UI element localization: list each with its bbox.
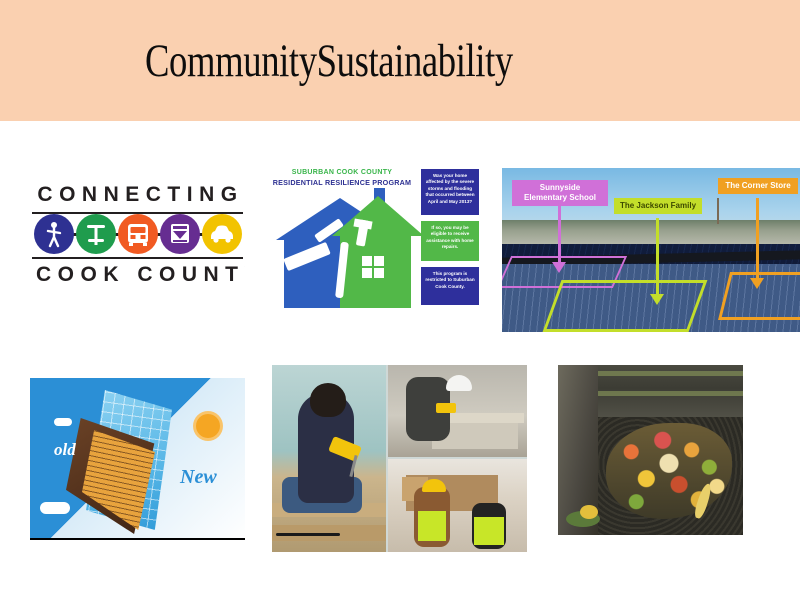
safety-vest-icon: [418, 511, 446, 541]
bin-slat-lower: [596, 391, 743, 396]
bike-icon: [76, 214, 116, 254]
arrow-shaft-store: [756, 198, 759, 280]
power-tool-yellow: [436, 403, 456, 413]
flyer-callout-1: Was your home affected by the severe sto…: [421, 169, 479, 215]
logo-bottom-word: COOK COUNTY: [30, 263, 245, 287]
label-new: New: [180, 466, 217, 489]
power-cord: [276, 533, 340, 536]
construction-training-collage: [272, 365, 527, 552]
collage-panel-cabinets: [388, 459, 527, 552]
flyer-callout-2: If so, you may be eligible to receive as…: [421, 221, 479, 261]
label-old: old: [54, 440, 76, 460]
hard-hat-white: [446, 375, 472, 391]
solar-tag-family: The Jackson Family: [614, 198, 702, 214]
train-icon: [160, 214, 200, 254]
house-window-mullion-v: [372, 256, 374, 278]
arrow-head-family: [650, 294, 664, 305]
flyer-title-line2: RESIDENTIAL RESILIENCE PROGRAM: [270, 178, 414, 187]
worker-head: [310, 383, 346, 417]
page-title: CommunitySustainability: [145, 36, 513, 86]
compost-bin-photo: [558, 365, 743, 535]
house-green-roof: [332, 196, 424, 236]
arrow-head-school: [552, 262, 566, 273]
arrow-shaft-school: [558, 206, 561, 264]
logo-rule-bottom: [32, 257, 243, 259]
radio-tower: [717, 198, 719, 224]
flyer-title-line1: SUBURBAN COOK COUNTY: [278, 169, 406, 176]
residential-resilience-flyer: SUBURBAN COOK COUNTY RESIDENTIAL RESILIE…: [270, 168, 480, 308]
slide-canvas: CommunitySustainability CONNECTING: [0, 0, 800, 600]
arrow-shaft-family: [656, 218, 659, 296]
logo-top-word: CONNECTING: [30, 183, 245, 207]
community-solar-photo: Sunnyside Elementary School The Jackson …: [502, 168, 800, 332]
collage-panel-workbench: [388, 365, 527, 457]
solar-tag-school: Sunnyside Elementary School: [512, 180, 608, 206]
cloud-icon: [54, 418, 72, 426]
arrow-head-store: [750, 278, 764, 289]
citrus-peel: [580, 505, 598, 519]
solar-tag-store: The Corner Store: [718, 178, 798, 194]
old-new-neighborhood-illustration: old New: [30, 378, 245, 540]
zone-outline-family: [543, 280, 708, 332]
walk-icon: [34, 214, 74, 254]
cloud-icon-lower: [40, 502, 70, 514]
flyer-callout-3: This program is restricted to Suburban C…: [421, 267, 479, 305]
collage-panel-drilling: [272, 365, 386, 552]
hard-hat-yellow: [422, 479, 446, 492]
car-icon: [202, 214, 242, 254]
safety-vest-icon-second: [474, 517, 504, 545]
illustration-underline: [30, 538, 245, 540]
sun-icon: [196, 414, 220, 438]
bus-icon: [118, 214, 158, 254]
connecting-cook-county-logo: CONNECTING: [30, 183, 245, 288]
bin-slat-upper: [596, 371, 743, 376]
